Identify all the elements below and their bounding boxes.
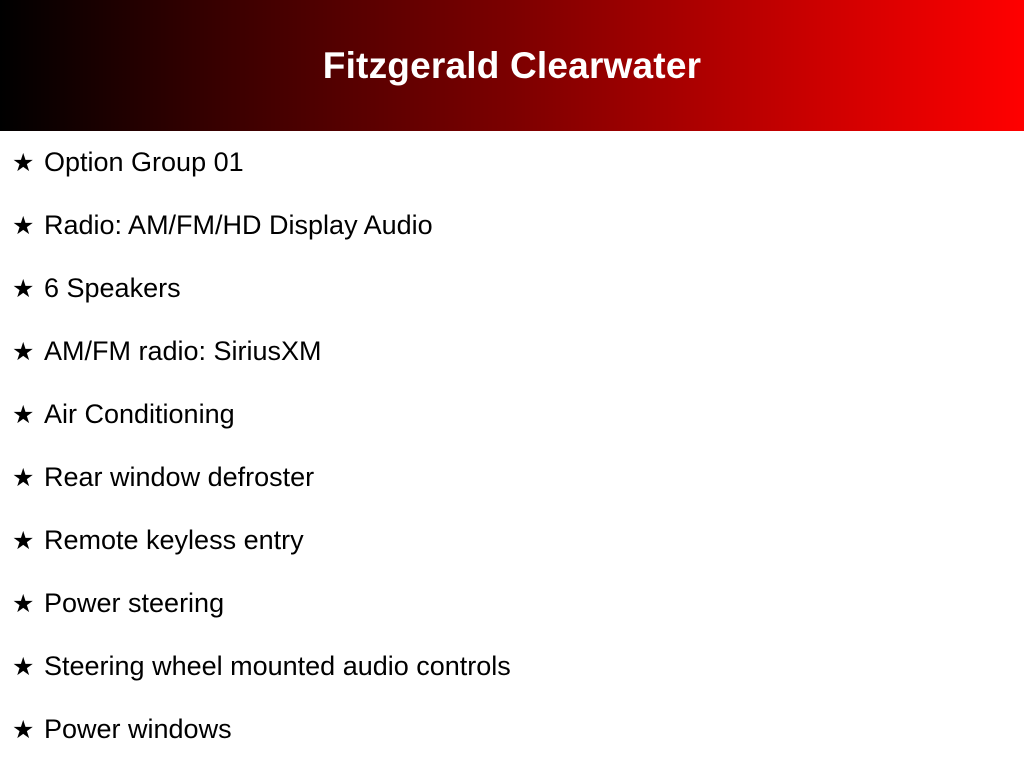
- list-item-label: Air Conditioning: [44, 401, 235, 428]
- star-bullet-icon: ★: [12, 214, 44, 239]
- slide: Fitzgerald Clearwater ★ Option Group 01 …: [0, 0, 1024, 768]
- star-bullet-icon: ★: [12, 466, 44, 491]
- list-item-label: Power steering: [44, 590, 224, 617]
- list-item-label: Remote keyless entry: [44, 527, 304, 554]
- star-bullet-icon: ★: [12, 529, 44, 554]
- star-bullet-icon: ★: [12, 592, 44, 617]
- list-item-label: 6 Speakers: [44, 275, 181, 302]
- list-item: ★ Steering wheel mounted audio controls: [0, 653, 1024, 716]
- list-item: ★ Power steering: [0, 590, 1024, 653]
- list-item-label: Power windows: [44, 716, 232, 743]
- slide-header-banner: Fitzgerald Clearwater: [0, 0, 1024, 131]
- list-item-label: Option Group 01: [44, 149, 244, 176]
- star-bullet-icon: ★: [12, 403, 44, 428]
- star-bullet-icon: ★: [12, 151, 44, 176]
- list-item: ★ Power windows: [0, 716, 1024, 779]
- page-title: Fitzgerald Clearwater: [323, 47, 701, 84]
- list-item: ★ Radio: AM/FM/HD Display Audio: [0, 212, 1024, 275]
- star-bullet-icon: ★: [12, 718, 44, 743]
- feature-bullet-list: ★ Option Group 01 ★ Radio: AM/FM/HD Disp…: [0, 131, 1024, 779]
- list-item: ★ AM/FM radio: SiriusXM: [0, 338, 1024, 401]
- star-bullet-icon: ★: [12, 655, 44, 680]
- list-item-label: Rear window defroster: [44, 464, 314, 491]
- list-item-label: Radio: AM/FM/HD Display Audio: [44, 212, 433, 239]
- list-item: ★ Air Conditioning: [0, 401, 1024, 464]
- list-item: ★ Remote keyless entry: [0, 527, 1024, 590]
- list-item: ★ Option Group 01: [0, 149, 1024, 212]
- star-bullet-icon: ★: [12, 340, 44, 365]
- list-item: ★ 6 Speakers: [0, 275, 1024, 338]
- list-item-label: AM/FM radio: SiriusXM: [44, 338, 322, 365]
- star-bullet-icon: ★: [12, 277, 44, 302]
- list-item-label: Steering wheel mounted audio controls: [44, 653, 511, 680]
- list-item: ★ Rear window defroster: [0, 464, 1024, 527]
